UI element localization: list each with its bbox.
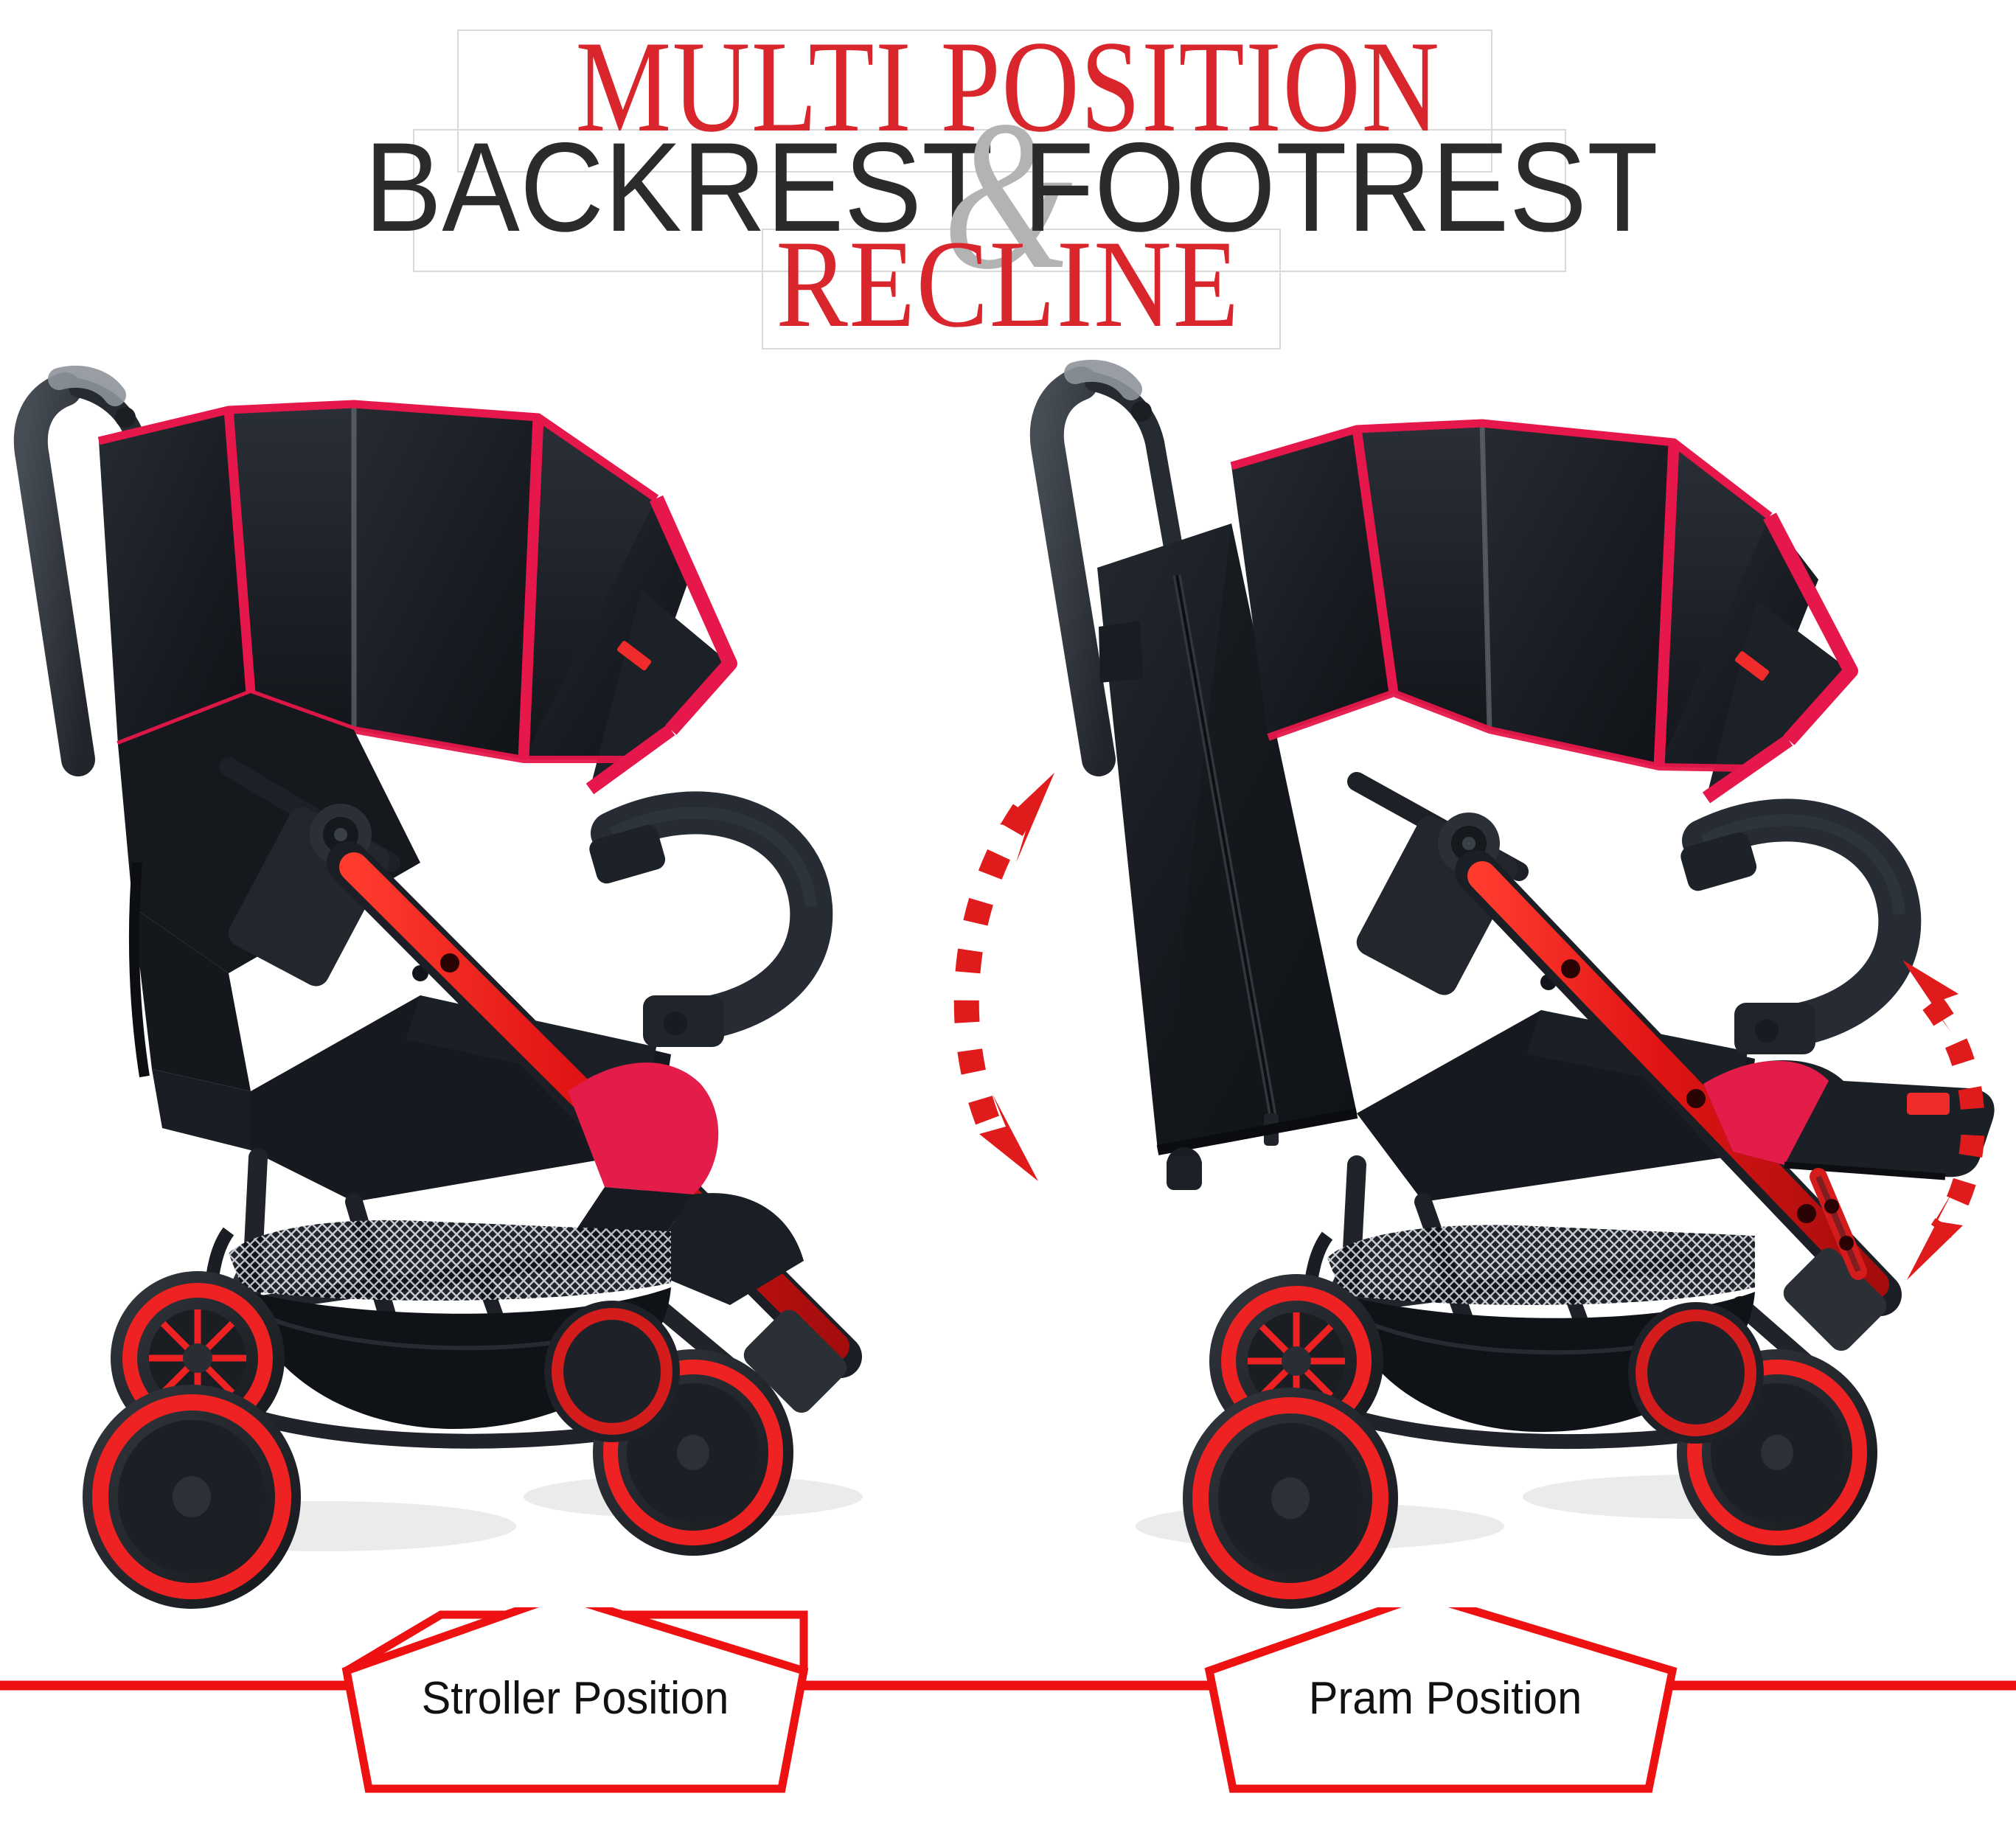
stroller-photo-stroller-position (7, 347, 1010, 1666)
caption-stroller-position: Stroller Position (363, 1672, 788, 1724)
wheel-rear-right-inner (1628, 1302, 1764, 1444)
title-line-recline: RECLINE (141, 221, 1874, 347)
footer-caption-band: Stroller Position Pram Position (0, 1607, 2016, 1830)
wheel-front-left (83, 1385, 301, 1609)
recline-hinge (1352, 782, 1557, 1000)
bumper-bar (1678, 820, 1899, 1054)
side-tab (1099, 621, 1143, 683)
canopy (1231, 423, 1851, 798)
wheel-rear-right-inner (544, 1301, 680, 1442)
bumper-bar (587, 813, 811, 1047)
product-image-area (0, 347, 2016, 1666)
title-block: MULTI POSITION BACKREST & FOOTREST RECLI… (0, 0, 2016, 354)
stroller-photo-pram-position (1010, 347, 2013, 1666)
wheel-front-left (1183, 1388, 1398, 1609)
footrest-brand-tag (1907, 1093, 1950, 1115)
caption-pram-position: Pram Position (1233, 1672, 1658, 1724)
